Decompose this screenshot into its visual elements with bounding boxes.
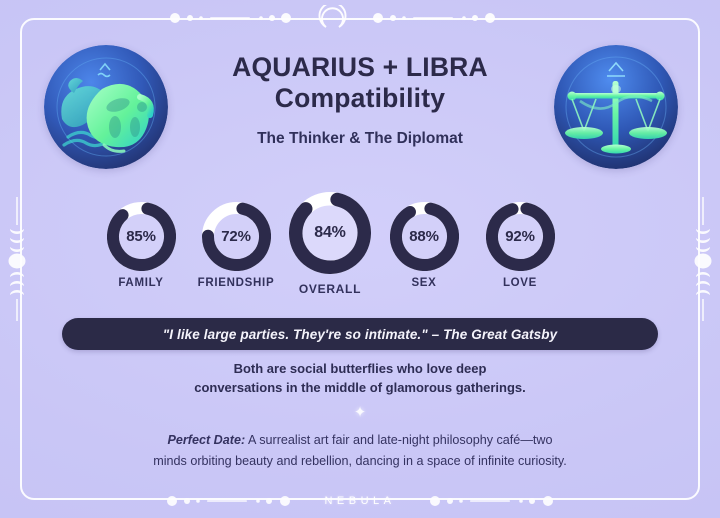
summary-line-1: Both are social butterflies who love dee… xyxy=(95,360,625,379)
summary-text: Both are social butterflies who love dee… xyxy=(95,360,625,398)
page-title: AQUARIUS + LIBRA Compatibility xyxy=(180,52,540,113)
left-side-ornament xyxy=(4,195,30,323)
donut-gauge: 84% xyxy=(289,192,371,274)
plus-sparkle-icon: ✦ xyxy=(0,405,720,420)
libra-scales-icon xyxy=(554,45,678,169)
donut-gauge: 88% xyxy=(390,202,459,271)
quote-banner: "I like large parties. They're so intima… xyxy=(62,318,658,350)
ring-value: 85% xyxy=(107,202,176,271)
ring-love: 92%LOVE xyxy=(470,202,570,289)
summary-line-2: conversations in the middle of glamorous… xyxy=(95,379,625,398)
ring-value: 88% xyxy=(390,202,459,271)
ring-value: 92% xyxy=(486,202,555,271)
perfect-date-label: Perfect Date: xyxy=(167,433,245,447)
compatibility-ring-row: 85%FAMILY72%FRIENDSHIP84%OVERALL88%SEX92… xyxy=(30,188,690,300)
ring-label: SEX xyxy=(411,277,436,289)
perfect-date-text-1: A surrealist art fair and late-night phi… xyxy=(248,433,553,447)
moon-phase-ornament-vertical xyxy=(4,195,30,323)
header-block: AQUARIUS + LIBRA Compatibility The Think… xyxy=(180,52,540,148)
ring-friendship: 72%FRIENDSHIP xyxy=(186,202,286,289)
ring-overall: 84%OVERALL xyxy=(280,192,380,296)
moon-phase-ornament xyxy=(129,489,319,513)
ring-label: OVERALL xyxy=(299,282,361,296)
brand-wordmark: NEBULA xyxy=(319,495,400,507)
infographic-canvas: NEBULA xyxy=(0,0,720,518)
quote-text: "I like large parties. They're so intima… xyxy=(163,327,557,342)
libra-sign-circle xyxy=(554,45,678,169)
moon-phase-ornament-vertical xyxy=(690,195,716,323)
moon-phase-ornament xyxy=(130,5,590,31)
donut-gauge: 92% xyxy=(486,202,555,271)
perfect-date-block: Perfect Date: A surrealist art fair and … xyxy=(62,430,658,472)
ring-sex: 88%SEX xyxy=(374,202,474,289)
title-line-2: Compatibility xyxy=(180,83,540,114)
donut-gauge: 72% xyxy=(202,202,271,271)
top-ornament xyxy=(0,5,720,31)
ring-label: FRIENDSHIP xyxy=(198,277,275,289)
ring-value: 72% xyxy=(202,202,271,271)
donut-gauge: 85% xyxy=(107,202,176,271)
ring-label: LOVE xyxy=(503,277,537,289)
ring-label: FAMILY xyxy=(118,277,163,289)
perfect-date-line-1: Perfect Date: A surrealist art fair and … xyxy=(62,430,658,451)
ring-value: 84% xyxy=(289,192,371,274)
title-line-1: AQUARIUS + LIBRA xyxy=(180,52,540,83)
perfect-date-line-2: minds orbiting beauty and rebellion, dan… xyxy=(62,451,658,472)
right-side-ornament xyxy=(690,195,716,323)
bottom-ornament: NEBULA xyxy=(0,488,720,514)
moon-phase-ornament xyxy=(401,489,591,513)
aquarius-sign-circle xyxy=(44,45,168,169)
page-subtitle: The Thinker & The Diplomat xyxy=(180,130,540,148)
ring-family: 85%FAMILY xyxy=(91,202,191,289)
aquarius-water-bearer-icon xyxy=(44,45,168,169)
